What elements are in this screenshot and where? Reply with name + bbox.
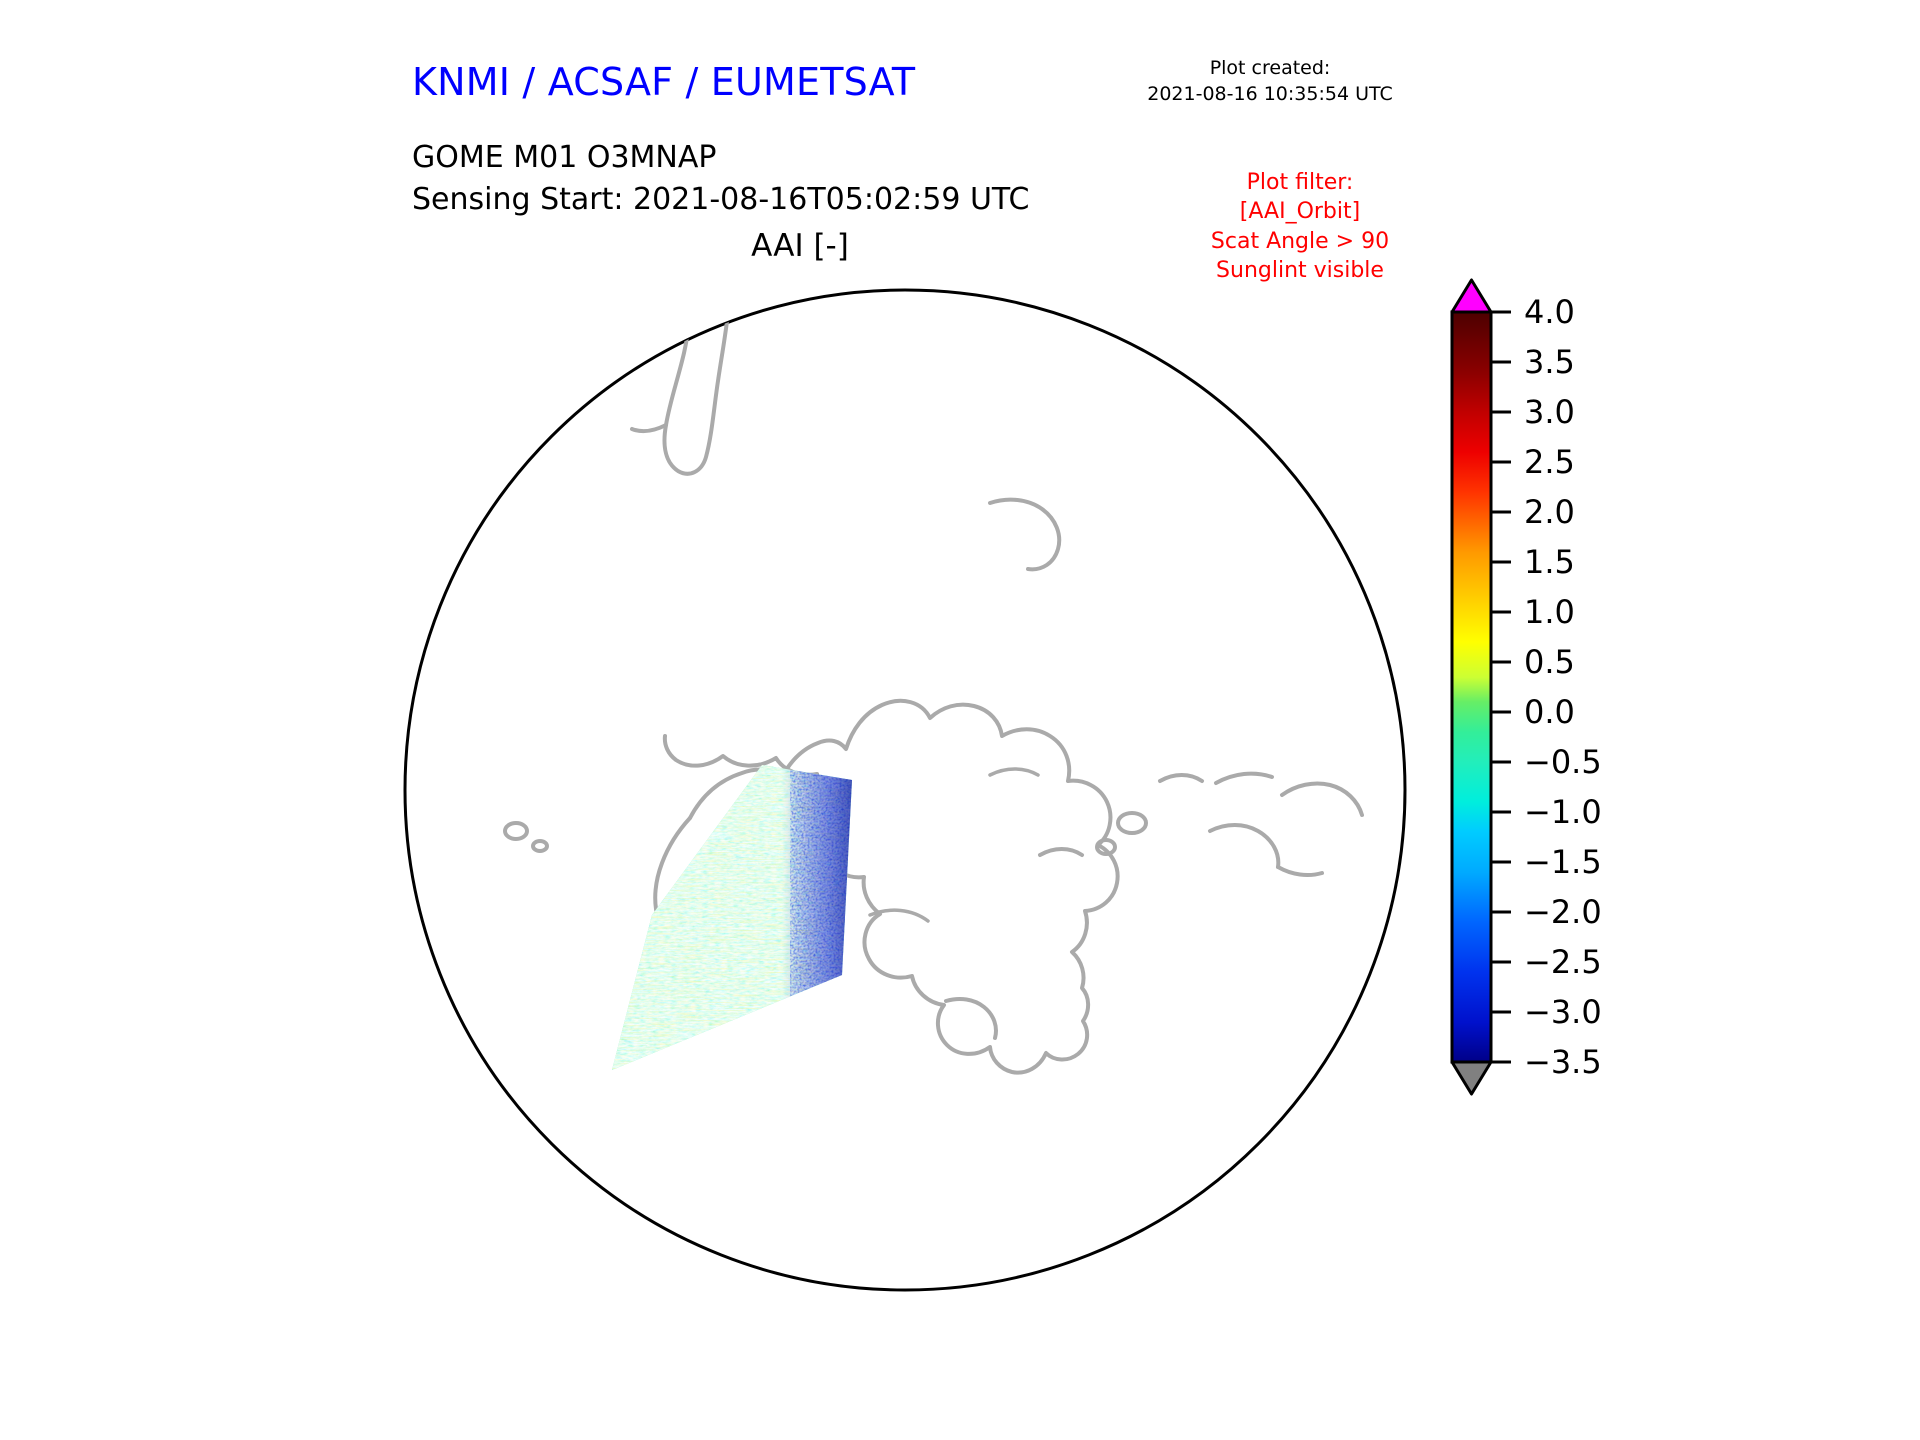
colorbar-tick-label: −0.5 — [1524, 743, 1602, 781]
colorbar-tick-label: −3.0 — [1524, 993, 1602, 1031]
colorbar-tick-label: 4.0 — [1524, 293, 1575, 331]
colorbar-tick-label: −3.5 — [1524, 1043, 1602, 1081]
organisation-title: KNMI / ACSAF / EUMETSAT — [412, 60, 915, 104]
plot-filter-line-2: Scat Angle > 90 — [1150, 227, 1450, 256]
colorbar-tick-label: −2.0 — [1524, 893, 1602, 931]
page-title: AAI [-] — [520, 228, 1080, 264]
plot-filter-block: Plot filter: [AAI_Orbit] Scat Angle > 90… — [1150, 168, 1450, 285]
colorbar-tick-label: −2.5 — [1524, 943, 1602, 981]
sensing-start: Sensing Start: 2021-08-16T05:02:59 UTC — [412, 182, 1029, 217]
product-name: GOME M01 O3MNAP — [412, 140, 716, 175]
plot-created-timestamp: 2021-08-16 10:35:54 UTC — [1090, 82, 1450, 108]
colorbar-tick-label: 2.0 — [1524, 493, 1575, 531]
colorbar-tick-labels: 4.0 3.5 3.0 2.5 2.0 1.5 1.0 0.5 0.0 −0.5… — [1524, 293, 1602, 1081]
plot-canvas: KNMI / ACSAF / EUMETSAT Plot created: 20… — [0, 0, 1920, 1440]
colorbar-tick-label: −1.5 — [1524, 843, 1602, 881]
colorbar-tick-label: 3.0 — [1524, 393, 1575, 431]
colorbar-tick-label: 1.0 — [1524, 593, 1575, 631]
colorbar-tick-label: 0.0 — [1524, 693, 1575, 731]
plot-filter-title: Plot filter: — [1150, 168, 1450, 197]
map-svg — [390, 275, 1420, 1305]
colorbar-over-range-arrow — [1452, 280, 1491, 312]
colorbar-under-range-arrow — [1452, 1062, 1491, 1094]
colorbar-tick-label: 2.5 — [1524, 443, 1575, 481]
colorbar-tick-label: 1.5 — [1524, 543, 1575, 581]
plot-filter-line-1: [AAI_Orbit] — [1150, 197, 1450, 226]
colorbar-tick-label: 0.5 — [1524, 643, 1575, 681]
colorbar-tick-label: 3.5 — [1524, 343, 1575, 381]
colorbar-ticks — [1491, 312, 1511, 1062]
colorbar-tick-label: −1.0 — [1524, 793, 1602, 831]
colorbar-gradient — [1452, 312, 1491, 1062]
plot-created-label: Plot created: — [1090, 56, 1450, 82]
map-plot — [390, 275, 1420, 1305]
colorbar: 4.0 3.5 3.0 2.5 2.0 1.5 1.0 0.5 0.0 −0.5… — [1438, 280, 1768, 1120]
plot-created-block: Plot created: 2021-08-16 10:35:54 UTC — [1090, 56, 1450, 107]
colorbar-svg: 4.0 3.5 3.0 2.5 2.0 1.5 1.0 0.5 0.0 −0.5… — [1438, 280, 1768, 1120]
